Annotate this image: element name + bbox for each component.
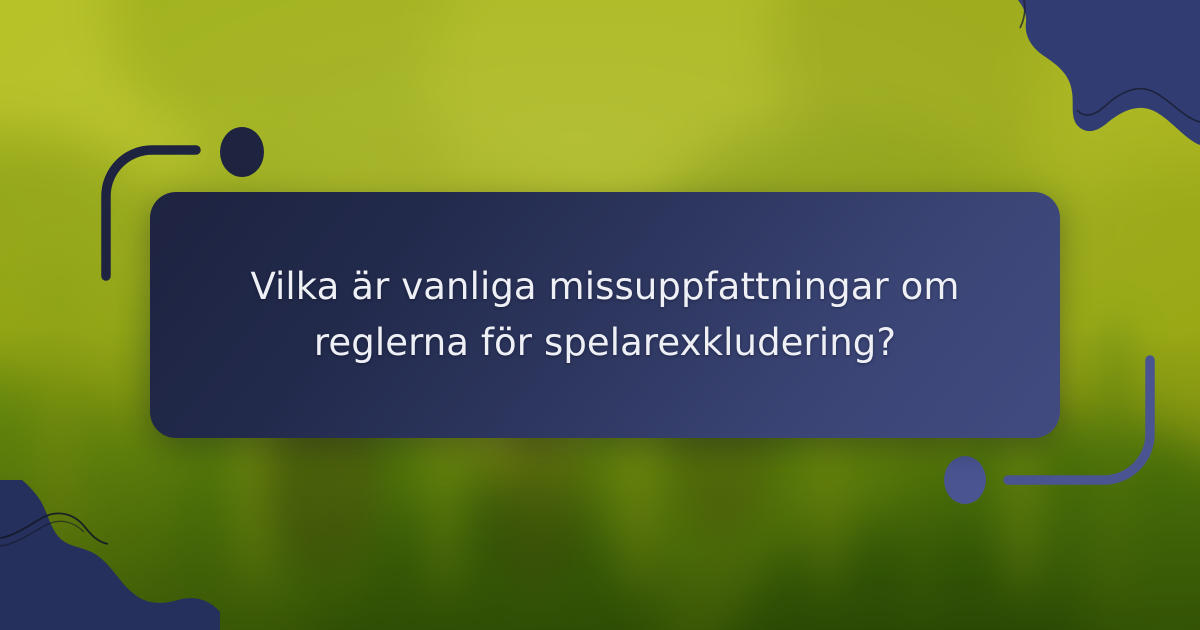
question-text: Vilka är vanliga missuppfattningar om re… <box>212 259 998 371</box>
social-card-canvas: Vilka är vanliga missuppfattningar om re… <box>0 0 1200 630</box>
question-card: Vilka är vanliga missuppfattningar om re… <box>150 192 1060 438</box>
